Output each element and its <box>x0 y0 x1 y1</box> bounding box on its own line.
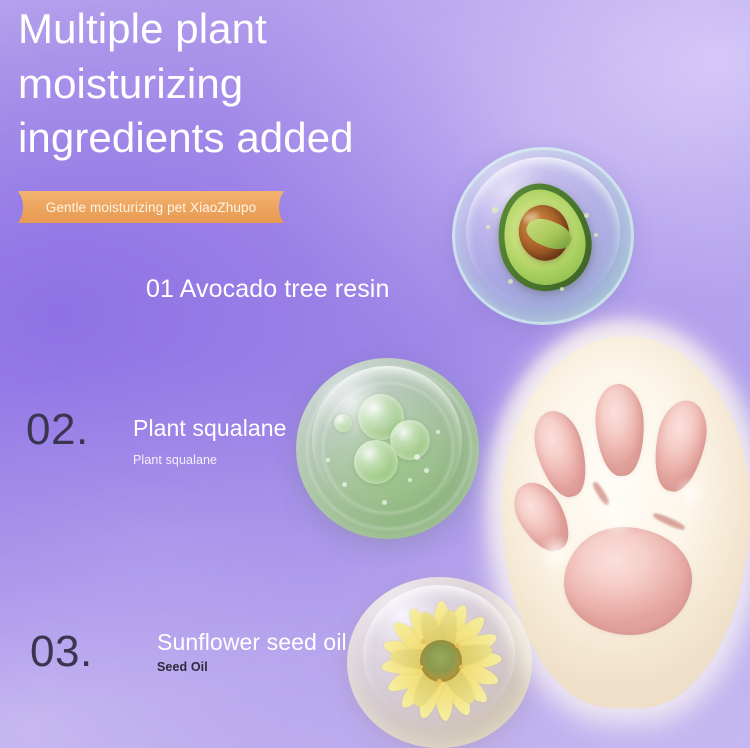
avocado-pit <box>513 200 575 266</box>
paw-fur-tuft <box>532 536 580 580</box>
tagline-badge: Gentle moisturizing pet XiaoZhupo <box>14 191 288 223</box>
ingredient-title-2: Plant squalane <box>133 417 287 440</box>
avocado-orb-icon <box>452 147 634 325</box>
splash-droplet <box>560 287 564 291</box>
page-title: Multiple plant moisturizing ingredients … <box>18 2 488 166</box>
product-poster: Multiple plant moisturizing ingredients … <box>0 0 750 748</box>
squalane-orb-icon <box>296 358 479 539</box>
splash-droplet <box>594 233 598 237</box>
splash-droplet <box>492 207 498 213</box>
paw-main-pad <box>564 527 692 635</box>
avocado-flesh <box>494 181 595 294</box>
ingredient-subtitle-3: Seed Oil <box>157 661 208 674</box>
splash-droplet <box>508 279 513 284</box>
avocado-fruit <box>486 173 601 300</box>
cat-paw-image <box>492 322 750 722</box>
splash-droplet <box>584 213 589 218</box>
splash-droplet <box>486 225 490 229</box>
ingredient-title-3: Sunflower seed oil <box>157 631 347 654</box>
ingredient-number-3: 03. <box>30 630 93 674</box>
avocado-pit-highlight <box>522 211 540 225</box>
paw-fur-tuft <box>588 498 644 544</box>
avocado-skin <box>486 173 601 300</box>
orb-rim-highlight <box>466 157 620 307</box>
orb-rim-highlight <box>312 366 462 516</box>
paw-fur-tuft <box>668 478 712 518</box>
ingredient-number-2: 02. <box>26 408 89 452</box>
badge-label: Gentle moisturizing pet XiaoZhupo <box>46 200 256 215</box>
ingredient-subtitle-2: Plant squalane <box>133 454 217 467</box>
avocado-slice <box>523 213 576 255</box>
ingredient-title-1: 01 Avocado tree resin <box>146 277 389 302</box>
